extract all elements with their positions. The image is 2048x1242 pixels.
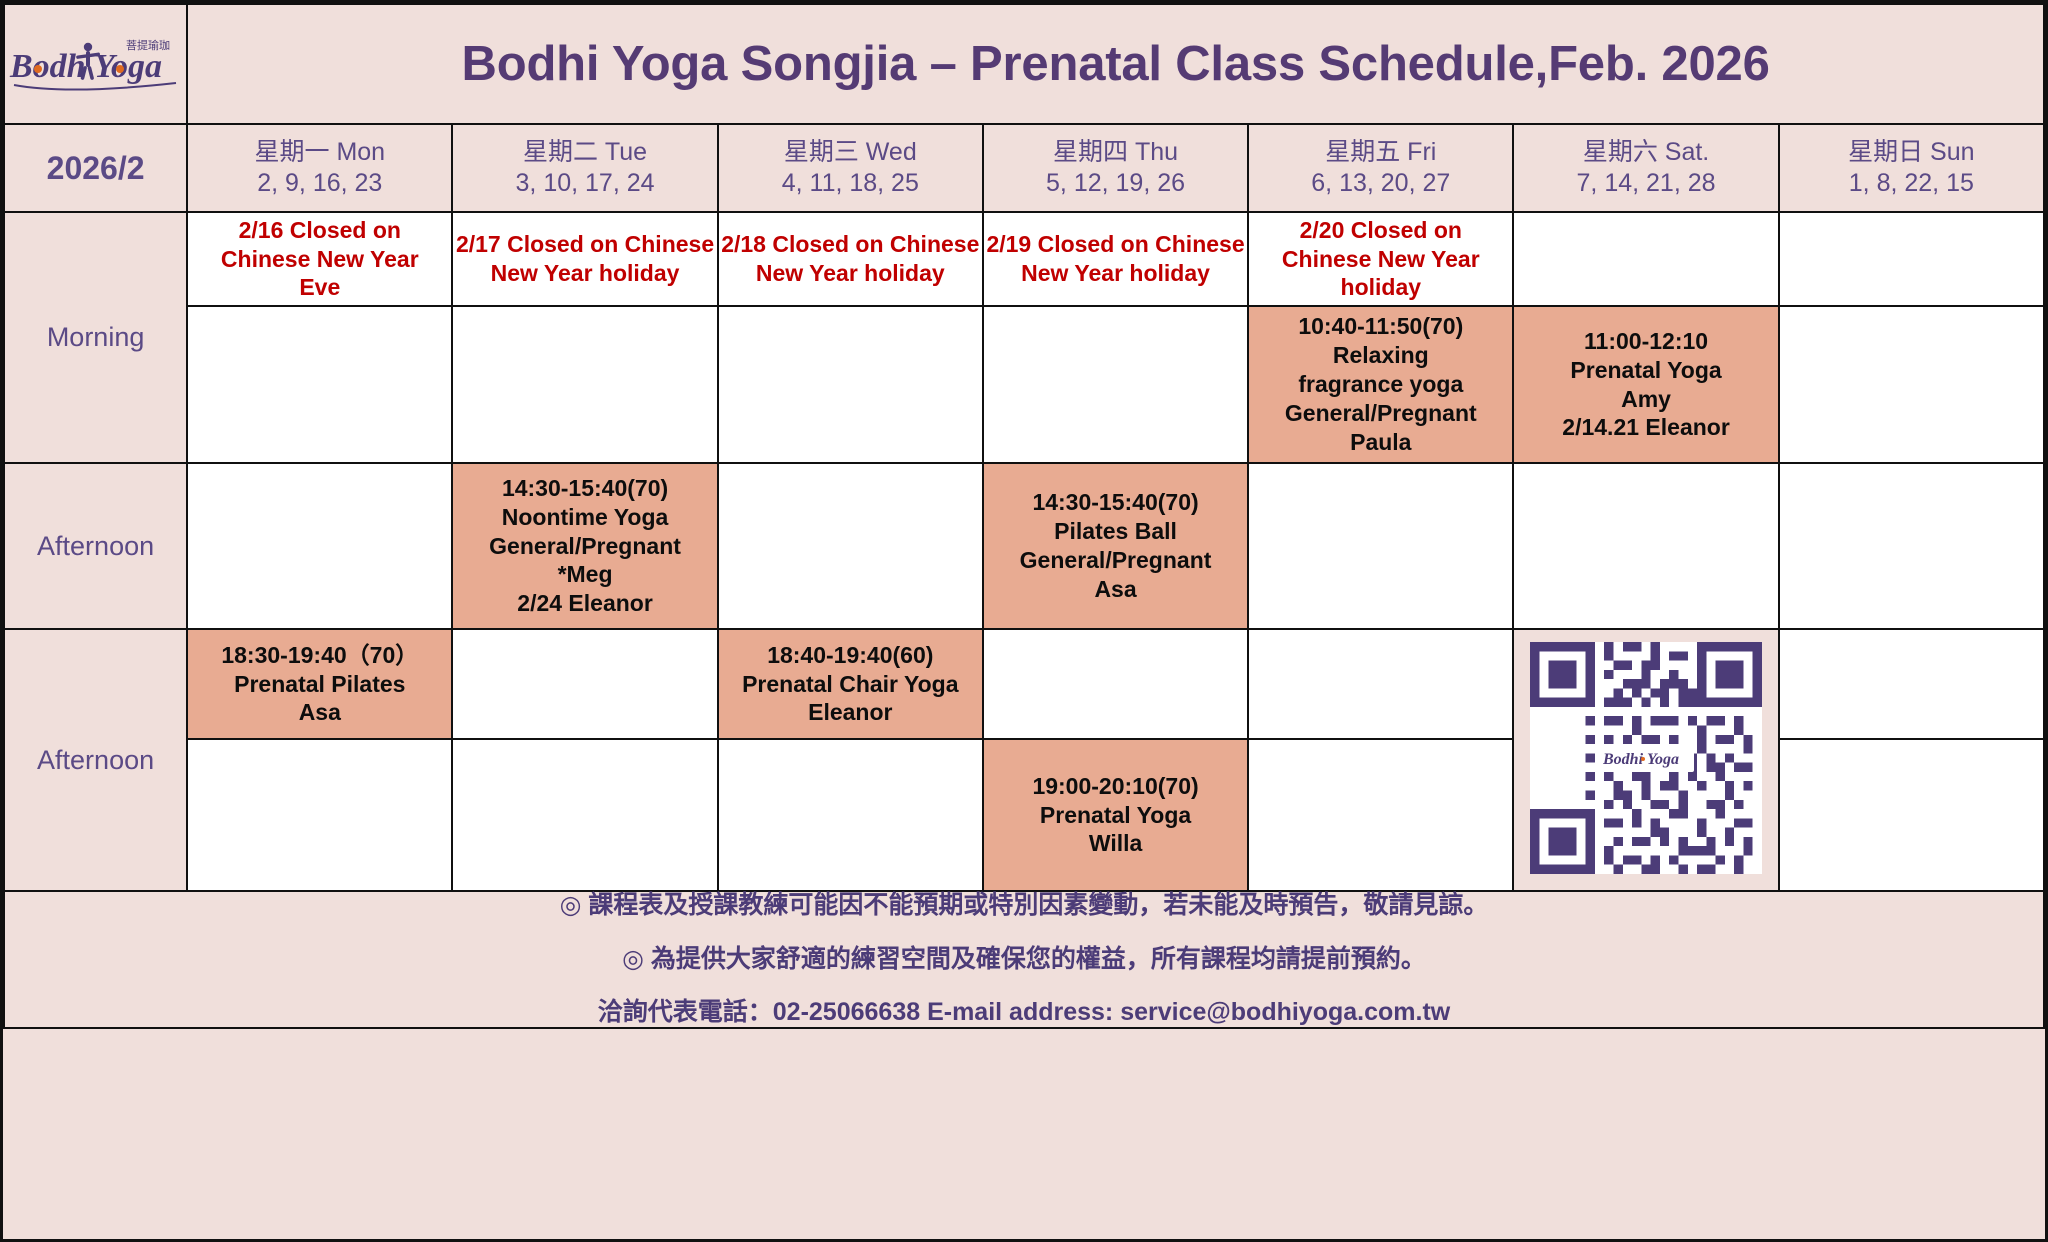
day-name-sun: 星期日 Sun: [1780, 137, 2043, 168]
cell-line: 11:00-12:10: [1514, 327, 1777, 356]
closure-sat: [1513, 212, 1778, 306]
afternoon-slot-mon: [187, 463, 452, 629]
cell-line: 18:40-19:40(60): [719, 641, 982, 670]
cell-line: Prenatal Yoga: [984, 801, 1247, 830]
footer-note-1: ◎ 課程表及授課教練可能因不能預期或特別因素變動，若未能及時預告，敬請見諒。: [5, 892, 2043, 920]
cell-line: 19:00-20:10(70): [984, 772, 1247, 801]
cell-line: 14:30-15:40(70): [984, 488, 1247, 517]
title-row: Bodh Yoga 菩提瑜珈 Bodhi Yoga So: [4, 4, 2044, 124]
morning-slot-thu: [983, 306, 1248, 463]
closure-tue: 2/17 Closed on ChineseNew Year holiday: [452, 212, 717, 306]
day-dates-sun: 1, 8, 22, 15: [1780, 168, 2043, 199]
svg-text:菩提瑜珈: 菩提瑜珈: [126, 38, 170, 52]
day-header-sun: 星期日 Sun 1, 8, 22, 15: [1779, 124, 2044, 212]
afternoon-row: Afternoon 14:30-15:40(70)Noontime YogaGe…: [4, 463, 2044, 629]
day-header-thu: 星期四 Thu 5, 12, 19, 26: [983, 124, 1248, 212]
afternoon-slot-sat: [1513, 463, 1778, 629]
cell-line: holiday: [1249, 273, 1512, 302]
cell-line: General/Pregnant: [1249, 399, 1512, 428]
brand-logo-cell: Bodh Yoga 菩提瑜珈: [4, 4, 187, 124]
cell-line: 18:30-19:40（70）: [188, 641, 451, 670]
svg-text:Bodh: Bodh: [9, 48, 86, 85]
evening-slot-sun-late: [1779, 739, 2044, 891]
class-morning-fri[interactable]: 10:40-11:50(70)Relaxingfragrance yogaGen…: [1248, 306, 1513, 463]
class-afternoon-thu[interactable]: 14:30-15:40(70)Pilates BallGeneral/Pregn…: [983, 463, 1248, 629]
class-evening-wed[interactable]: 18:40-19:40(60)Prenatal Chair YogaEleano…: [718, 629, 983, 739]
evening-slot-tue: [452, 629, 717, 739]
cell-line: 2/24 Eleanor: [453, 589, 716, 618]
evening-slot-sun-early: [1779, 629, 2044, 739]
cell-line: General/Pregnant: [453, 532, 716, 561]
evening-slot-mon-late: [187, 739, 452, 891]
cell-line: *Meg: [453, 560, 716, 589]
evening-slot-fri: [1248, 629, 1513, 739]
day-header-tue: 星期二 Tue 3, 10, 17, 24: [452, 124, 717, 212]
day-name-tue: 星期二 Tue: [453, 137, 716, 168]
cell-line: 2/20 Closed on: [1249, 216, 1512, 245]
cell-line: Asa: [984, 575, 1247, 604]
schedule-table: Bodh Yoga 菩提瑜珈 Bodhi Yoga So: [3, 3, 2045, 1029]
cell-line: fragrance yoga: [1249, 370, 1512, 399]
footer-contact: 洽詢代表電話：02-25066638 E-mail address: servi…: [5, 999, 2043, 1027]
svg-text:Yoga: Yoga: [94, 48, 162, 85]
qr-center-logo-icon: Bodhi Yoga: [1598, 744, 1694, 772]
morning-closure-row: Morning 2/16 Closed onChinese New YearEv…: [4, 212, 2044, 306]
closure-wed: 2/18 Closed on ChineseNew Year holiday: [718, 212, 983, 306]
day-dates-sat: 7, 14, 21, 28: [1514, 168, 1777, 199]
evening-slot-wed-late: [718, 739, 983, 891]
day-name-thu: 星期四 Thu: [984, 137, 1247, 168]
cell-line: Willa: [984, 829, 1247, 858]
cell-line: Paula: [1249, 428, 1512, 457]
closure-thu: 2/19 Closed on ChineseNew Year holiday: [983, 212, 1248, 306]
class-evening-thu[interactable]: 19:00-20:10(70)Prenatal YogaWilla: [983, 739, 1248, 891]
svg-text:Bodhi: Bodhi: [1603, 751, 1644, 768]
qr-code-icon: Bodhi Yoga: [1522, 642, 1770, 874]
row-label-evening: Afternoon: [4, 629, 187, 891]
cell-line: Chinese New Year: [188, 245, 451, 274]
evening-slot-tue-late: [452, 739, 717, 891]
cell-line: Amy: [1514, 385, 1777, 414]
footer-note-2: ◎ 為提供大家舒適的練習空間及確保您的權益，所有課程均請提前預約。: [5, 946, 2043, 974]
cell-line: Asa: [188, 698, 451, 727]
row-label-morning: Morning: [4, 212, 187, 463]
cell-line: 2/18 Closed on Chinese: [719, 230, 982, 259]
month-label: 2026/2: [47, 150, 145, 186]
morning-class-row: 10:40-11:50(70)Relaxingfragrance yogaGen…: [4, 306, 2044, 463]
afternoon-slot-sun: [1779, 463, 2044, 629]
day-name-sat: 星期六 Sat.: [1514, 137, 1777, 168]
cell-line: 14:30-15:40(70): [453, 474, 716, 503]
cell-line: Prenatal Yoga: [1514, 356, 1777, 385]
morning-slot-wed: [718, 306, 983, 463]
day-header-sat: 星期六 Sat. 7, 14, 21, 28: [1513, 124, 1778, 212]
cell-line: 2/17 Closed on Chinese: [453, 230, 716, 259]
morning-slot-mon: [187, 306, 452, 463]
cell-line: New Year holiday: [453, 259, 716, 288]
cell-line: Prenatal Chair Yoga: [719, 670, 982, 699]
evening-slot-fri-late: [1248, 739, 1513, 891]
day-header-fri: 星期五 Fri 6, 13, 20, 27: [1248, 124, 1513, 212]
day-dates-thu: 5, 12, 19, 26: [984, 168, 1247, 199]
day-header-mon: 星期一 Mon 2, 9, 16, 23: [187, 124, 452, 212]
cell-line: Eleanor: [719, 698, 982, 727]
qr-code-cell: Bodhi Yoga: [1513, 629, 1778, 891]
day-name-fri: 星期五 Fri: [1249, 137, 1512, 168]
cell-line: General/Pregnant: [984, 546, 1247, 575]
cell-line: Pilates Ball: [984, 517, 1247, 546]
day-dates-wed: 4, 11, 18, 25: [719, 168, 982, 199]
day-header-row: 2026/2 星期一 Mon 2, 9, 16, 23 星期二 Tue 3, 1…: [4, 124, 2044, 212]
row-label-afternoon: Afternoon: [4, 463, 187, 629]
day-header-wed: 星期三 Wed 4, 11, 18, 25: [718, 124, 983, 212]
day-name-wed: 星期三 Wed: [719, 137, 982, 168]
day-dates-tue: 3, 10, 17, 24: [453, 168, 716, 199]
bodhi-yoga-logo-icon: Bodh Yoga 菩提瑜珈: [8, 33, 183, 95]
cell-line: Noontime Yoga: [453, 503, 716, 532]
class-evening-mon[interactable]: 18:30-19:40（70）Prenatal PilatesAsa: [187, 629, 452, 739]
afternoon-slot-fri: [1248, 463, 1513, 629]
cell-line: 2/14.21 Eleanor: [1514, 413, 1777, 442]
cell-line: 10:40-11:50(70): [1249, 312, 1512, 341]
class-morning-sat[interactable]: 11:00-12:10Prenatal YogaAmy2/14.21 Elean…: [1513, 306, 1778, 463]
cell-line: Prenatal Pilates: [188, 670, 451, 699]
class-afternoon-tue[interactable]: 14:30-15:40(70)Noontime YogaGeneral/Preg…: [452, 463, 717, 629]
morning-slot-sun: [1779, 306, 2044, 463]
cell-line: New Year holiday: [719, 259, 982, 288]
cell-line: 2/19 Closed on Chinese: [984, 230, 1247, 259]
day-dates-fri: 6, 13, 20, 27: [1249, 168, 1512, 199]
page-title: Bodhi Yoga Songjia – Prenatal Class Sche…: [462, 37, 1770, 91]
month-label-cell: 2026/2: [4, 124, 187, 212]
afternoon-slot-wed: [718, 463, 983, 629]
poster-title-cell: Bodhi Yoga Songjia – Prenatal Class Sche…: [187, 4, 2044, 124]
closure-sun: [1779, 212, 2044, 306]
cell-line: New Year holiday: [984, 259, 1247, 288]
cell-line: 2/16 Closed on: [188, 216, 451, 245]
cell-line: Relaxing: [1249, 341, 1512, 370]
closure-mon: 2/16 Closed onChinese New YearEve: [187, 212, 452, 306]
day-name-mon: 星期一 Mon: [188, 137, 451, 168]
footer-notes: ◎ 課程表及授課教練可能因不能預期或特別因素變動，若未能及時預告，敬請見諒。 ◎…: [4, 891, 2044, 1028]
evening-row-early: Afternoon 18:30-19:40（70）Prenatal Pilate…: [4, 629, 2044, 739]
footer-row: ◎ 課程表及授課教練可能因不能預期或特別因素變動，若未能及時預告，敬請見諒。 ◎…: [4, 891, 2044, 1028]
cell-line: Chinese New Year: [1249, 245, 1512, 274]
evening-slot-thu-early: [983, 629, 1248, 739]
schedule-poster: Bodh Yoga 菩提瑜珈 Bodhi Yoga So: [0, 0, 2048, 1242]
cell-line: Eve: [188, 273, 451, 302]
svg-text:Yoga: Yoga: [1647, 751, 1679, 768]
day-dates-mon: 2, 9, 16, 23: [188, 168, 451, 199]
morning-slot-tue: [452, 306, 717, 463]
closure-fri: 2/20 Closed onChinese New Yearholiday: [1248, 212, 1513, 306]
